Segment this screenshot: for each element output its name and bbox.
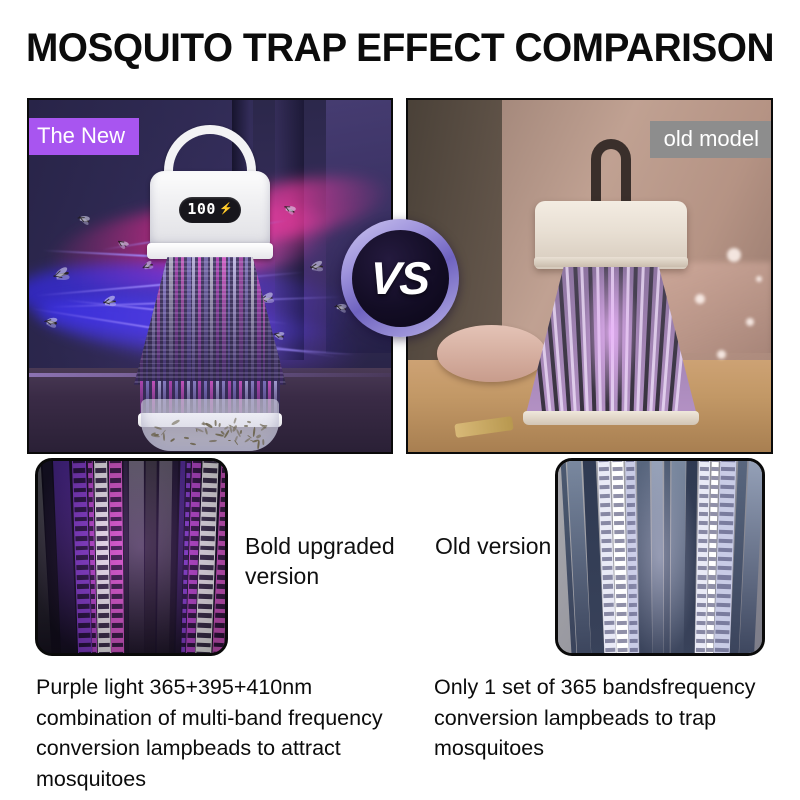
- led-segment-gap: [710, 540, 716, 544]
- led-segment-gap: [601, 531, 611, 535]
- detail-vignette: [38, 461, 225, 653]
- grid-mesh-line: [134, 358, 286, 360]
- grid-mesh-line: [134, 344, 286, 346]
- lamp-collar-ring: [147, 243, 273, 259]
- led-segment-gap: [604, 621, 614, 625]
- led-segment-gap: [716, 621, 730, 626]
- detail-photo-new: [35, 458, 228, 656]
- led-segment-gap: [707, 639, 713, 643]
- trapped-mosquito: [215, 420, 217, 426]
- vs-badge: VS: [341, 219, 459, 337]
- led-segment-gap: [600, 522, 610, 526]
- led-segment-gap: [720, 485, 734, 490]
- led-segment-gap: [112, 653, 123, 656]
- led-segment-gap: [604, 630, 614, 634]
- trapped-mosquito: [163, 433, 165, 441]
- led-segment-gap: [712, 467, 718, 471]
- led-segment-gap: [721, 458, 735, 463]
- trapped-mosquito: [184, 436, 189, 438]
- led-segment-gap: [605, 648, 615, 652]
- mosquito-collection-cup: [141, 399, 279, 451]
- trapped-mosquito: [171, 419, 180, 425]
- trapped-mosquito: [233, 418, 236, 424]
- led-segment-gap: [99, 653, 110, 656]
- led-segment-gap: [601, 540, 611, 544]
- grid-mesh-line: [134, 261, 286, 263]
- lightning-bolt-icon: ⚡: [219, 204, 233, 215]
- detail-glow: [615, 461, 705, 653]
- grid-mesh-line: [134, 312, 286, 314]
- led-segment-gap: [601, 549, 611, 553]
- caption-old-model: Only 1 set of 365 bandsfrequency convers…: [434, 672, 794, 764]
- led-segment-gap: [719, 531, 733, 536]
- grid-mesh-line: [134, 284, 286, 286]
- trapped-mosquito: [170, 438, 175, 442]
- led-segment-gap: [715, 630, 729, 635]
- led-segment-gap: [706, 648, 712, 652]
- led-segment-gap: [712, 458, 718, 462]
- bokeh-dot: [717, 350, 726, 359]
- led-segment-gap: [717, 594, 731, 599]
- led-segment-gap: [715, 639, 729, 644]
- led-segment-gap: [717, 567, 731, 572]
- led-segment-gap: [711, 495, 717, 499]
- led-segment-gap: [602, 576, 612, 580]
- trapped-mosquito: [190, 443, 196, 446]
- trapped-mosquito: [218, 424, 221, 428]
- led-segment-gap: [599, 467, 609, 471]
- led-segment-gap: [186, 653, 194, 656]
- grid-mesh-line: [134, 321, 286, 323]
- grid-mesh-line: [134, 340, 286, 342]
- led-segment-gap: [717, 585, 731, 590]
- grid-mesh-line: [134, 353, 286, 355]
- led-segment-gap: [602, 558, 612, 562]
- led-segment-gap: [605, 639, 615, 643]
- led-segment-gap: [716, 612, 730, 617]
- grid-mesh-line: [134, 303, 286, 305]
- led-segment-gap: [602, 567, 612, 571]
- led-segment-gap: [599, 485, 609, 489]
- grid-mesh-line: [134, 307, 286, 309]
- led-segment-gap: [598, 458, 608, 462]
- lamp-glow: [577, 267, 645, 413]
- grid-mesh-line: [134, 317, 286, 319]
- battery-level-digits: 100: [187, 202, 216, 217]
- grid-mesh-line: [134, 363, 286, 365]
- grid-mesh-line: [134, 335, 286, 337]
- led-segment-gap: [603, 585, 613, 589]
- led-segment-gap: [600, 494, 610, 498]
- grid-mesh-line: [134, 349, 286, 351]
- grid-mesh-line: [134, 330, 286, 332]
- grid-mesh-line: [134, 275, 286, 277]
- led-segment-gap: [707, 612, 713, 616]
- lamp-led-body-old: [526, 267, 696, 413]
- trapped-mosquito: [228, 439, 231, 441]
- led-segment-gap: [603, 603, 613, 607]
- bokeh-dot: [746, 318, 754, 326]
- trapped-mosquito: [204, 427, 208, 434]
- trapped-mosquito: [209, 440, 217, 443]
- led-segment-gap: [709, 558, 715, 562]
- battery-display: 100 ⚡: [179, 197, 241, 223]
- detail-label-new: Bold upgraded version: [245, 532, 425, 592]
- led-segment-gap: [708, 603, 714, 607]
- led-segment-gap: [708, 585, 714, 589]
- led-segment-gap: [600, 504, 610, 508]
- led-segment-gap: [709, 576, 715, 580]
- led-segment-gap: [717, 576, 731, 581]
- grid-mesh-line: [134, 376, 286, 378]
- led-segment-gap: [715, 648, 729, 653]
- trapped-mosquito: [262, 439, 265, 445]
- grid-mesh-line: [134, 293, 286, 295]
- photo-old-model: old model: [406, 98, 773, 454]
- led-segment-gap: [719, 522, 733, 527]
- detail-label-old: Old version: [435, 532, 595, 562]
- page-title: MOSQUITO TRAP EFFECT COMPARISON: [12, 26, 788, 71]
- led-segment-gap: [709, 567, 715, 571]
- lamp-base-old: [523, 411, 699, 425]
- led-segment-gap: [710, 513, 716, 517]
- led-segment-gap: [709, 549, 715, 553]
- led-segment-gap: [718, 540, 732, 545]
- grid-mesh-line: [134, 280, 286, 282]
- led-segment-gap: [716, 603, 730, 608]
- led-bar: [280, 257, 283, 385]
- led-segment-gap: [721, 476, 735, 481]
- trapped-mosquito: [256, 434, 262, 439]
- led-segment-gap: [720, 503, 734, 508]
- led-segment-gap: [181, 653, 184, 656]
- led-segment-gap: [599, 476, 609, 480]
- led-segment-gap: [710, 522, 716, 526]
- led-segment-gap: [711, 486, 717, 490]
- trapped-mosquito: [256, 440, 259, 449]
- led-segment-gap: [720, 494, 734, 499]
- led-segment-gap: [711, 504, 717, 508]
- led-segment-gap: [600, 513, 610, 517]
- grid-mesh-line: [134, 298, 286, 300]
- lamp-collar-old: [534, 257, 688, 267]
- photo-new-model: 100 ⚡ The New: [27, 98, 393, 454]
- led-bar: [140, 257, 143, 385]
- old-model-lamp: [511, 139, 711, 429]
- led-segment-gap: [721, 467, 735, 472]
- grid-mesh-line: [134, 289, 286, 291]
- lamp-rib: [526, 267, 547, 413]
- led-bar: [146, 257, 149, 385]
- grid-mesh-line: [134, 372, 286, 374]
- led-bar: [274, 257, 278, 385]
- led-segment-gap: [718, 558, 732, 563]
- led-segment-gap: [708, 594, 714, 598]
- trapped-mosquito: [234, 440, 239, 446]
- mosquito: [307, 261, 327, 272]
- grid-mesh-line: [134, 367, 286, 369]
- led-segment-gap: [719, 512, 733, 517]
- grid-mesh-line: [134, 270, 286, 272]
- trapped-mosquito: [244, 425, 248, 427]
- led-segment-gap: [711, 477, 717, 481]
- grid-mesh-line: [134, 326, 286, 328]
- grid-mesh-line: [134, 266, 286, 268]
- trapped-mosquito: [247, 421, 251, 424]
- lamp-led-grid-upper: [134, 257, 286, 385]
- led-segment-gap: [603, 594, 613, 598]
- led-segment-gap: [707, 630, 713, 634]
- led-segment-gap: [92, 653, 96, 656]
- vs-badge-core: VS: [352, 230, 449, 327]
- badge-old-model: old model: [650, 121, 773, 158]
- led-bar: [134, 257, 138, 385]
- caption-new-model: Purple light 365+395+410nm combination o…: [36, 672, 406, 794]
- badge-new-model: The New: [27, 118, 139, 155]
- new-model-lamp: 100 ⚡: [120, 125, 300, 445]
- trapped-mosquito: [154, 426, 162, 431]
- led-strip: [35, 458, 36, 656]
- led-segment-gap: [604, 612, 614, 616]
- vs-label: VS: [368, 251, 431, 305]
- led-segment-gap: [710, 531, 716, 535]
- led-segment-gap: [718, 549, 732, 554]
- trapped-mosquito: [252, 427, 255, 437]
- led-segment-gap: [707, 621, 713, 625]
